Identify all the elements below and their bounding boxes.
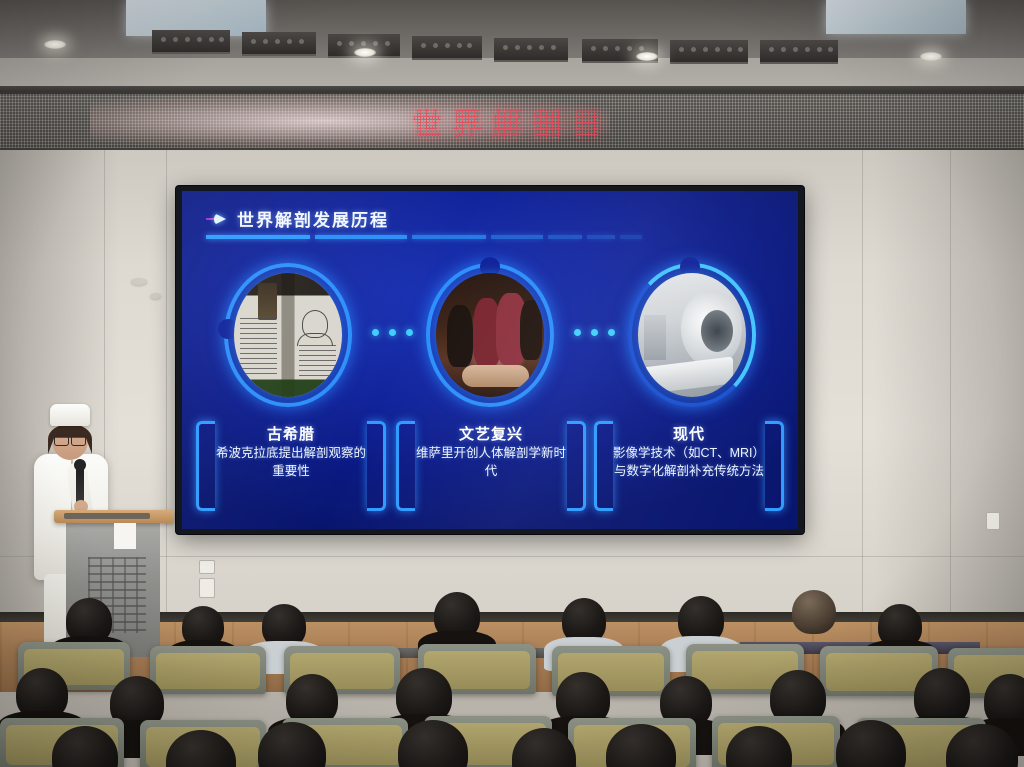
stage-image-renaissance[interactable] xyxy=(426,263,554,407)
card-heading: 现代 xyxy=(594,423,784,444)
timeline-cards: 古希腊 希波克拉底提出解剖观察的重要性 文艺复兴 维萨里开创人体解剖学新时代 现… xyxy=(182,419,798,523)
wall-switch[interactable] xyxy=(199,560,215,574)
ceiling-light-trough xyxy=(670,40,748,64)
connector-dots-2 xyxy=(574,329,615,336)
timeline-card-ancient-greece[interactable]: 古希腊 希波克拉底提出解剖观察的重要性 xyxy=(196,419,386,519)
attendee-head xyxy=(984,674,1024,728)
attendee-head xyxy=(262,604,306,648)
arrow-right-icon xyxy=(206,212,228,226)
card-body: 维萨里开创人体解剖学新时代 xyxy=(412,445,570,481)
ceiling-light-trough xyxy=(152,30,230,54)
ceiling-skylight-right xyxy=(826,0,966,34)
ct-scanner-image xyxy=(638,273,746,397)
stage-image-ancient-greece[interactable] xyxy=(224,263,352,407)
ceiling-light-trough xyxy=(760,40,838,64)
attendee-head xyxy=(878,604,922,648)
attendee-head xyxy=(182,606,224,648)
timeline-circles xyxy=(182,263,798,413)
led-banner: 世界解剖日 xyxy=(0,86,1024,156)
slide-title: 世界解剖发展历程 xyxy=(237,206,389,231)
card-heading: 文艺复兴 xyxy=(396,423,586,444)
card-heading: 古希腊 xyxy=(196,423,386,444)
led-banner-text: 世界解剖日 xyxy=(0,100,1024,144)
attendee-head xyxy=(16,668,68,720)
seat[interactable] xyxy=(150,646,266,694)
attendee-head xyxy=(792,590,836,634)
lectern-papers xyxy=(114,523,136,549)
ceiling-downlight xyxy=(44,40,66,49)
attendee-head xyxy=(678,596,724,644)
ceiling-downlight xyxy=(636,52,658,61)
ceiling xyxy=(0,0,1024,92)
wall-panel-seam xyxy=(950,150,951,620)
attendee-head xyxy=(562,598,606,644)
ceiling-downlight xyxy=(354,48,376,57)
timeline-card-renaissance[interactable]: 文艺复兴 维萨里开创人体解剖学新时代 xyxy=(396,419,586,519)
stage-image-modern[interactable] xyxy=(628,263,756,407)
smoke-detector xyxy=(150,293,161,299)
timeline-card-modern[interactable]: 现代 影像学技术（如CT、MRI）与数字化解剖补充传统方法 xyxy=(594,419,784,519)
stone-book-hippocrates-image xyxy=(234,273,342,397)
ceiling-downlight xyxy=(920,52,942,61)
ceiling-light-trough xyxy=(412,36,482,60)
connector-dots-1 xyxy=(372,329,413,336)
slide-title-row: 世界解剖发展历程 xyxy=(206,206,389,231)
card-body: 希波克拉底提出解剖观察的重要性 xyxy=(212,445,370,481)
led-matrix-panel: 世界解剖日 xyxy=(0,94,1024,148)
attendee-head xyxy=(434,592,480,640)
attendee-head xyxy=(66,598,112,644)
nurse-cap xyxy=(50,404,90,426)
wall-socket-right[interactable] xyxy=(986,512,1000,530)
glasses-icon xyxy=(54,435,86,444)
title-underline xyxy=(206,235,682,239)
presentation-slide[interactable]: 世界解剖发展历程 xyxy=(182,191,798,529)
card-body: 影像学技术（如CT、MRI）与数字化解剖补充传统方法 xyxy=(610,445,768,481)
audience xyxy=(0,590,1024,767)
auditorium-photo: 世界解剖日 世界解剖发展历程 xyxy=(0,0,1024,767)
smoke-detector xyxy=(131,278,147,285)
ceiling-light-trough xyxy=(494,38,568,62)
anatomy-lesson-painting-image xyxy=(436,273,544,397)
wall-panel-seam xyxy=(862,150,863,620)
lectern-top xyxy=(54,510,174,523)
wall-shading-right xyxy=(874,150,1024,620)
ceiling-light-trough xyxy=(242,32,316,56)
